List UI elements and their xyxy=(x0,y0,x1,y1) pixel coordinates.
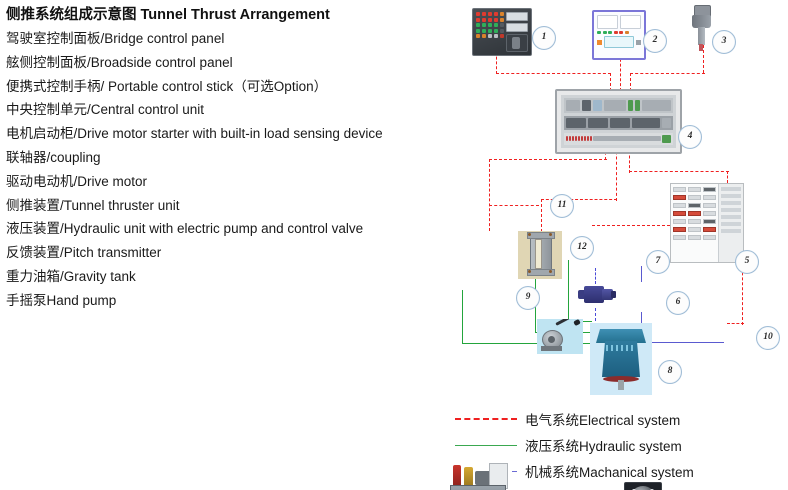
legend-swatch-hydraulic xyxy=(455,445,517,446)
badge-11: 11 xyxy=(550,194,574,218)
wire-electrical xyxy=(727,323,744,324)
wire-electrical xyxy=(629,171,729,172)
list-item: 驾驶室控制面板/Bridge control panel xyxy=(6,27,456,51)
wire-electrical xyxy=(489,159,490,231)
list-item: 驱动电动机/Drive motor xyxy=(6,170,456,194)
badge-7: 7 xyxy=(646,250,670,274)
list-item: 侧推装置/Tunnel thruster unit xyxy=(6,194,456,218)
hand-pump[interactable] xyxy=(537,319,583,354)
drive-motor[interactable] xyxy=(590,323,652,395)
wire-electrical xyxy=(489,205,539,206)
list-item: 舷侧控制面板/Broadside control panel xyxy=(6,51,456,75)
badge-10: 10 xyxy=(756,326,780,350)
list-item: 电机启动柜/Drive motor starter with built-in … xyxy=(6,122,456,146)
control-valve[interactable] xyxy=(578,283,618,308)
broadside-control-panel[interactable] xyxy=(592,10,646,60)
wire-mechanical xyxy=(640,342,724,343)
badge-5: 5 xyxy=(735,250,759,274)
drive-motor-starter[interactable] xyxy=(670,183,744,263)
badge-2: 2 xyxy=(643,29,667,53)
legend-label-hydraulic: 液压系统Hydraulic system xyxy=(525,435,682,455)
wire-electrical xyxy=(630,73,705,74)
bridge-panel-buttons xyxy=(476,12,504,52)
badge-6: 6 xyxy=(666,291,690,315)
central-control-unit[interactable] xyxy=(555,89,682,154)
wire-electrical xyxy=(489,159,607,160)
wire-electrical xyxy=(496,73,611,74)
wire-hydraulic xyxy=(462,290,463,344)
list-item: 便携式控制手柄/ Portable control stick（可选Option… xyxy=(6,75,456,99)
stick-tip xyxy=(699,44,703,51)
list-item: 反馈装置/Pitch transmitter xyxy=(6,241,456,265)
wire-hydraulic xyxy=(568,260,569,322)
component-list: 侧推系统组成示意图 Tunnel Thrust Arrangement 驾驶室控… xyxy=(6,4,456,313)
stick-rod xyxy=(698,27,705,45)
list-item: 联轴器/coupling xyxy=(6,146,456,170)
system-diagram: 1 2 3 xyxy=(440,0,788,400)
list-item: 液压装置/Hydraulic unit with electric pump a… xyxy=(6,217,456,241)
wire-electrical xyxy=(592,225,670,226)
list-item: 手摇泵Hand pump xyxy=(6,289,456,313)
wire-mechanical-dashed xyxy=(595,268,596,284)
legend-swatch-electrical xyxy=(455,418,517,420)
badge-3: 3 xyxy=(712,30,736,54)
badge-4: 4 xyxy=(678,125,702,149)
bridge-panel-displays xyxy=(506,12,528,52)
badge-12: 12 xyxy=(570,236,594,260)
badge-9: 9 xyxy=(516,286,540,310)
wire-mechanical xyxy=(641,266,642,282)
badge-1: 1 xyxy=(532,26,556,50)
list-item: 重力油箱/Gravity tank xyxy=(6,265,456,289)
legend-label-electrical: 电气系统Electrical system xyxy=(525,409,680,429)
legend-row-electrical: 电气系统Electrical system xyxy=(455,406,785,432)
page-title: 侧推系统组成示意图 Tunnel Thrust Arrangement xyxy=(6,4,456,26)
hydraulic-unit[interactable] xyxy=(444,457,512,490)
wire-electrical xyxy=(727,171,728,183)
legend-row-hydraulic: 液压系统Hydraulic system xyxy=(455,432,785,458)
bridge-control-panel[interactable] xyxy=(472,8,532,56)
badge-8: 8 xyxy=(658,360,682,384)
gravity-tank[interactable] xyxy=(518,231,562,279)
diagram-page: 侧推系统组成示意图 Tunnel Thrust Arrangement 驾驶室控… xyxy=(0,0,788,490)
legend-label-mechanical: 机械系统Machanical system xyxy=(525,461,694,481)
coupling[interactable] xyxy=(624,482,662,490)
list-item: 中央控制单元/Central control unit xyxy=(6,98,456,122)
